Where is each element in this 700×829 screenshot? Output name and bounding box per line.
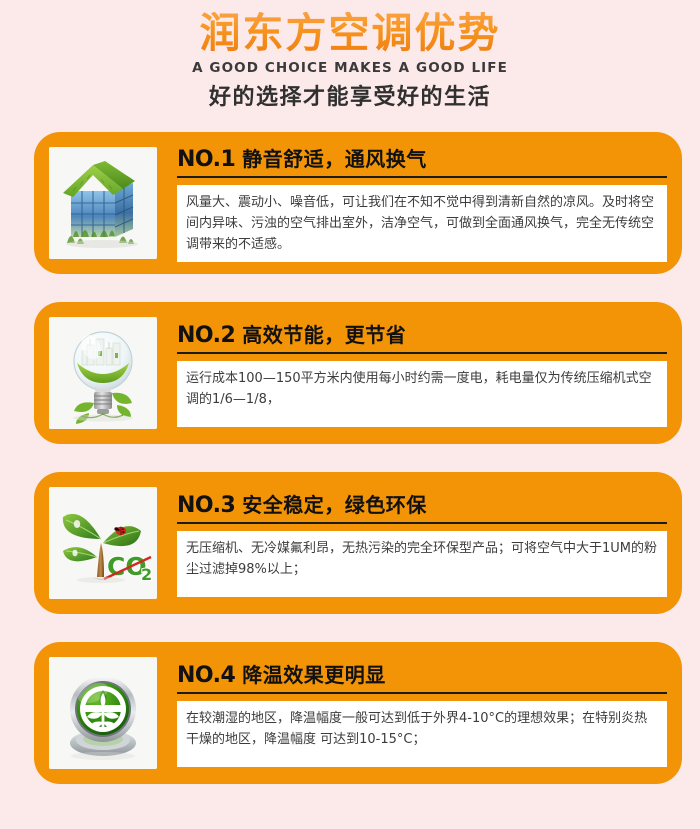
- card-number: NO.3: [177, 493, 235, 518]
- card-body-text: 运行成本100—150平方米内使用每小时约需一度电，耗电量仅为传统压缩机式空调的…: [186, 368, 658, 410]
- sapling-co2-icon: CO 2: [49, 487, 157, 599]
- card-body-text: 风量大、震动小、噪音低，可让我们在不知不觉中得到清新自然的凉风。及时将空间内异味…: [186, 192, 658, 255]
- card-title-row: NO.4 降温效果更明显: [177, 659, 667, 694]
- card-title-row: NO.1 静音舒适，通风换气: [177, 143, 667, 178]
- card-body-panel: 无压缩机、无冷媒氟利昂，无热污染的完全环保型产品；可将空气中大于1UM的粉尘过滤…: [177, 531, 667, 597]
- card-heading: 降温效果更明显: [242, 659, 386, 688]
- advantage-card-list: NO.1 静音舒适，通风换气 风量大、震动小、噪音低，可让我们在不知不觉中得到清…: [0, 132, 700, 784]
- card-content: NO.3 安全稳定，绿色环保 无压缩机、无冷媒氟利昂，无热污染的完全环保型产品；…: [177, 472, 682, 614]
- card-number: NO.1: [177, 147, 235, 172]
- card-body-panel: 在较潮湿的地区，降温幅度一般可达到低于外界4-10°C的理想效果；在特别炎热干燥…: [177, 701, 667, 767]
- card-heading: 高效节能，更节省: [242, 319, 406, 348]
- card-number: NO.4: [177, 663, 235, 688]
- card-title-row: NO.2 高效节能，更节省: [177, 319, 667, 354]
- eco-lightbulb-icon: [49, 317, 157, 429]
- advantage-card: NO.2 高效节能，更节省 运行成本100—150平方米内使用每小时约需一度电，…: [34, 302, 682, 444]
- card-body-panel: 运行成本100—150平方米内使用每小时约需一度电，耗电量仅为传统压缩机式空调的…: [177, 361, 667, 427]
- page-header: 润东方空调优势 A GOOD CHOICE MAKES A GOOD LIFE …: [0, 0, 700, 110]
- page-title: 润东方空调优势: [0, 12, 700, 57]
- advantage-card: NO.1 静音舒适，通风换气 风量大、震动小、噪音低，可让我们在不知不觉中得到清…: [34, 132, 682, 274]
- card-heading: 安全稳定，绿色环保: [242, 489, 427, 518]
- advantage-card: CO 2 NO.3 安全稳定，绿色环保 无压缩机、无冷媒氟利昂，无热污染的完全环…: [34, 472, 682, 614]
- card-content: NO.4 降温效果更明显 在较潮湿的地区，降温幅度一般可达到低于外界4-10°C…: [177, 642, 682, 784]
- card-body-panel: 风量大、震动小、噪音低，可让我们在不知不觉中得到清新自然的凉风。及时将空间内异味…: [177, 185, 667, 262]
- card-content: NO.1 静音舒适，通风换气 风量大、震动小、噪音低，可让我们在不知不觉中得到清…: [177, 132, 682, 274]
- chinese-subtitle: 好的选择才能享受好的生活: [0, 86, 700, 110]
- card-title-row: NO.3 安全稳定，绿色环保: [177, 489, 667, 524]
- english-tagline: A GOOD CHOICE MAKES A GOOD LIFE: [0, 62, 700, 76]
- green-globe-emblem-icon: [49, 657, 157, 769]
- advantage-card: NO.4 降温效果更明显 在较潮湿的地区，降温幅度一般可达到低于外界4-10°C…: [34, 642, 682, 784]
- green-roof-house-icon: [49, 147, 157, 259]
- svg-text:2: 2: [141, 565, 152, 584]
- card-number: NO.2: [177, 323, 235, 348]
- card-heading: 静音舒适，通风换气: [242, 143, 427, 172]
- card-content: NO.2 高效节能，更节省 运行成本100—150平方米内使用每小时约需一度电，…: [177, 302, 682, 444]
- card-body-text: 在较潮湿的地区，降温幅度一般可达到低于外界4-10°C的理想效果；在特别炎热干燥…: [186, 708, 658, 750]
- card-body-text: 无压缩机、无冷媒氟利昂，无热污染的完全环保型产品；可将空气中大于1UM的粉尘过滤…: [186, 538, 658, 580]
